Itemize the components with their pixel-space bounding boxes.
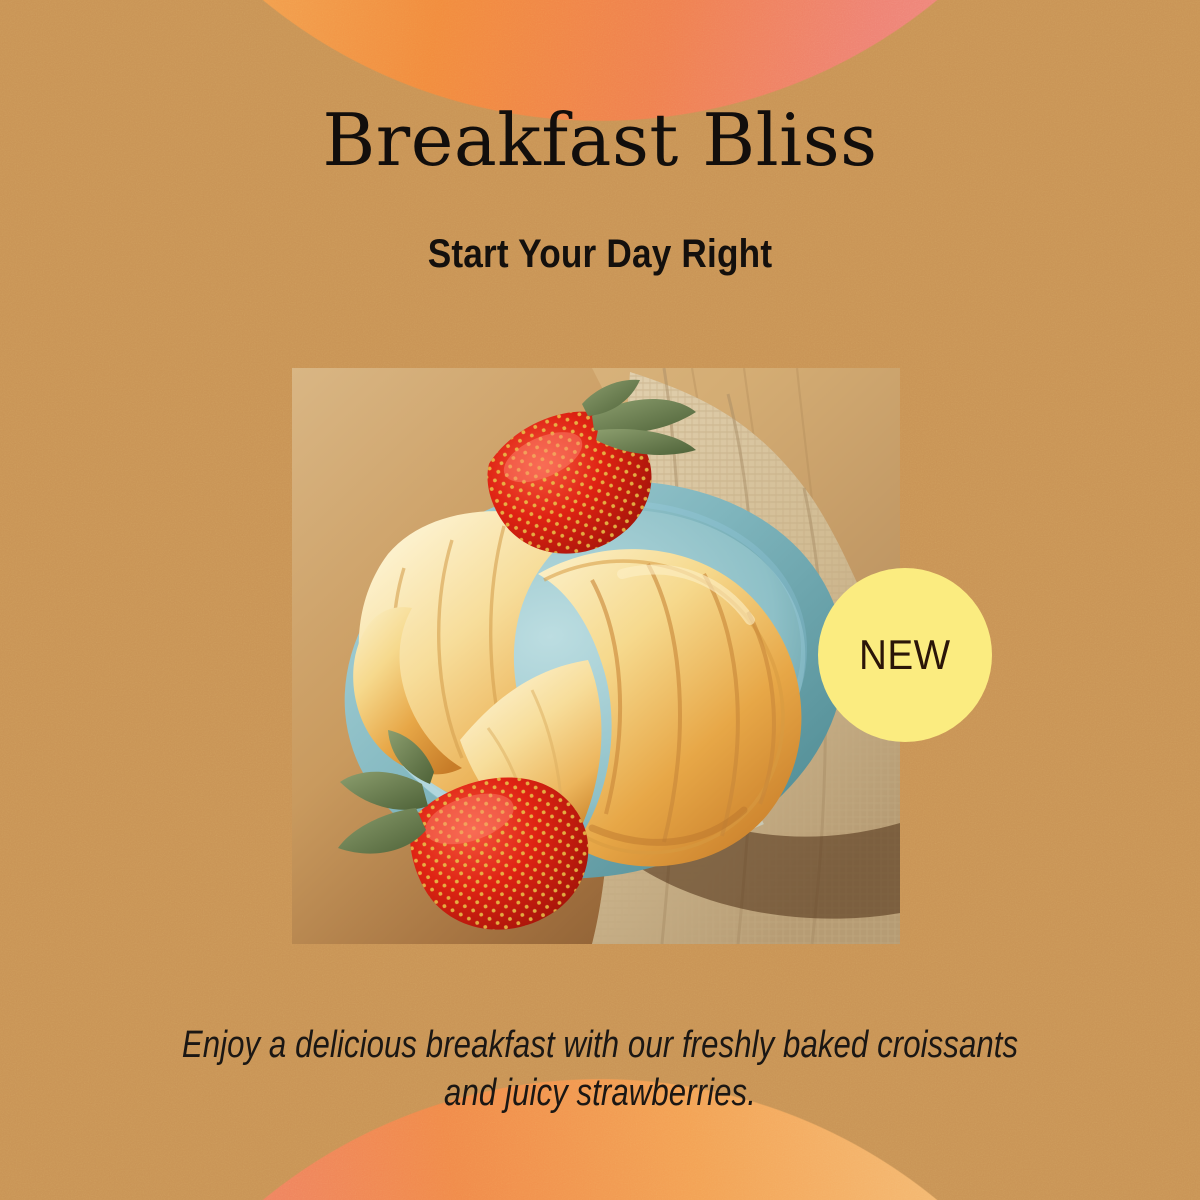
page-subtitle: Start Your Day Right — [72, 232, 1128, 277]
hero-image-container — [292, 368, 900, 944]
new-badge-label: NEW — [859, 631, 951, 679]
hero-image — [292, 368, 900, 944]
body-paragraph: Enjoy a delicious breakfast with our fre… — [182, 1022, 1018, 1118]
page-title: Breakfast Bliss — [0, 104, 1200, 176]
new-badge[interactable]: NEW — [818, 568, 992, 742]
poster-canvas: Breakfast Bliss Start Your Day Right — [0, 0, 1200, 1200]
